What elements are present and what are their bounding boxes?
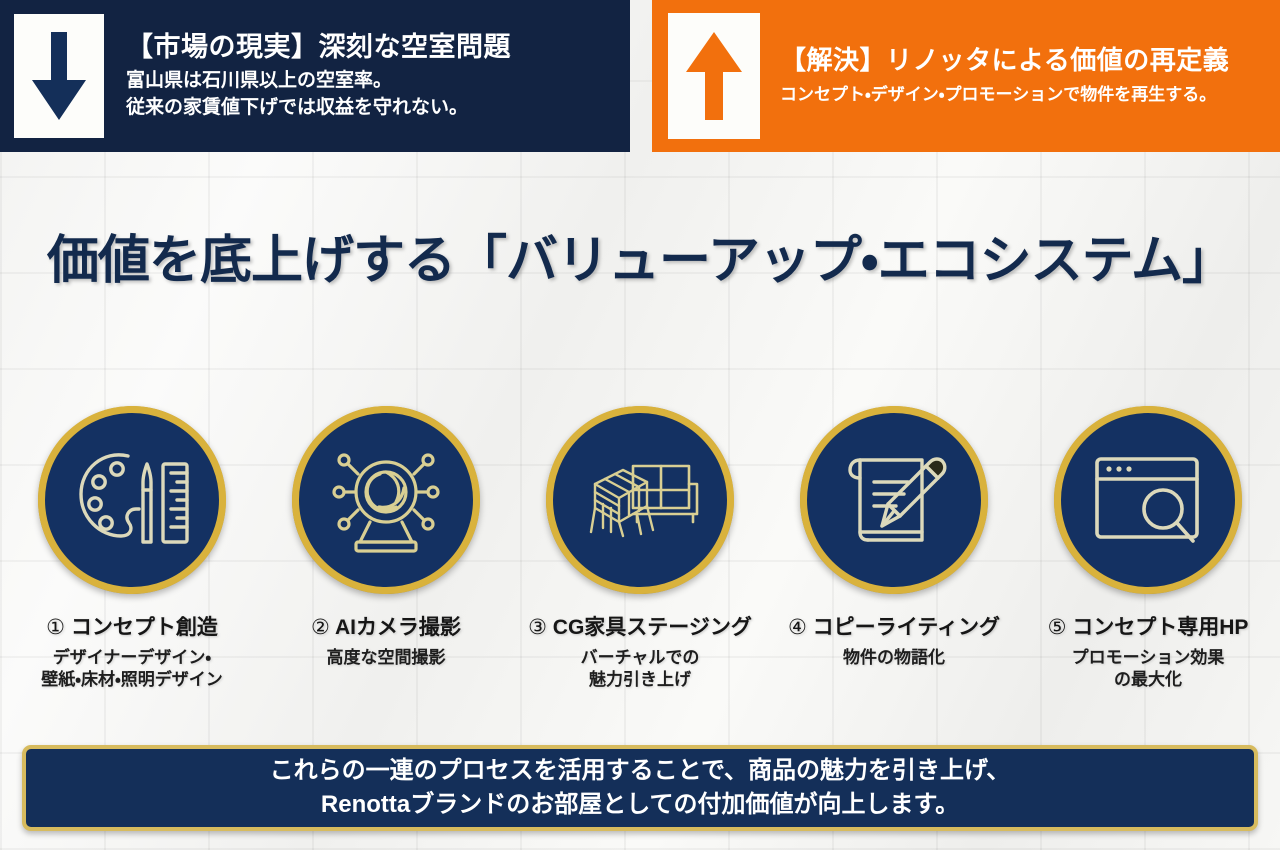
step-4-title: コピーライティング	[813, 616, 1000, 639]
step-item-ai-camera[interactable]: ② AIカメラ撮影 高度な空間撮影	[258, 406, 514, 669]
arrow-up-icon-box	[668, 13, 760, 139]
step-5-description: プロモーション効果 の最大化	[1072, 647, 1225, 691]
header-solution-panel: 【解決】リノッタによる価値の再定義 コンセプト・デザイン・プロモーションで物件を…	[652, 0, 1280, 152]
page-title: 価値を底上げする「バリューアップ・エコシステム」	[0, 218, 1280, 293]
step-3-description: バーチャルでの 魅力引き上げ	[581, 647, 700, 691]
header-problem-sub-1: 富山県は石川県以上の空室率。	[126, 68, 511, 94]
step-4-number: ④	[788, 616, 807, 639]
step-3-title: CG家具ステージング	[553, 616, 752, 639]
step-5-number: ⑤	[1048, 616, 1067, 639]
step-item-concept-creation[interactable]: ① コンセプト創造 デザイナーデザイン・ 壁紙・床材・照明デザイン	[4, 406, 260, 691]
summary-line-2: Renottaブランドのお部屋としての付加価値が向上します。	[321, 788, 959, 822]
summary-line-1: これらの一連のプロセスを活用することで、商品の魅力を引き上げ、	[270, 754, 1011, 788]
step-1-title: コンセプト創造	[71, 616, 218, 639]
step-5-label: ⑤ コンセプト専用HP	[1048, 611, 1249, 641]
arrow-up-icon	[682, 27, 746, 125]
step-item-copywriting[interactable]: ④ コピーライティング 物件の物語化	[766, 406, 1022, 669]
cg-furniture-wireframe-icon	[577, 444, 703, 556]
arrow-down-icon	[28, 28, 90, 124]
summary-banner: これらの一連のプロセスを活用することで、商品の魅力を引き上げ、 Renottaブ…	[22, 745, 1258, 831]
arrow-down-icon-box	[14, 14, 104, 138]
header-problem-title: 【市場の現実】深刻な空室問題	[126, 31, 511, 63]
step-5-title: コンセプト専用HP	[1072, 616, 1248, 639]
step-3-label: ③ CG家具ステージング	[528, 611, 752, 641]
header-solution-text: 【解決】リノッタによる価値の再定義 コンセプト・デザイン・プロモーションで物件を…	[780, 45, 1229, 107]
step-3-circle[interactable]	[546, 406, 734, 594]
scroll-pen-icon	[838, 444, 950, 556]
ai-camera-aperture-icon	[326, 444, 446, 556]
browser-search-icon	[1089, 447, 1207, 553]
header-problem-text: 【市場の現実】深刻な空室問題 富山県は石川県以上の空室率。 従来の家賃値下げでは…	[126, 31, 511, 121]
step-2-circle[interactable]	[292, 406, 480, 594]
step-4-label: ④ コピーライティング	[788, 611, 1000, 641]
header-problem-panel: 【市場の現実】深刻な空室問題 富山県は石川県以上の空室率。 従来の家賃値下げでは…	[0, 0, 630, 152]
step-3-number: ③	[528, 616, 547, 639]
step-1-number: ①	[46, 616, 65, 639]
step-item-cg-furniture[interactable]: ③ CG家具ステージング バーチャルでの 魅力引き上げ	[512, 406, 768, 691]
step-item-concept-website[interactable]: ⑤ コンセプト専用HP プロモーション効果 の最大化	[1020, 406, 1276, 691]
step-4-description: 物件の物語化	[843, 647, 945, 669]
header-solution-sub-1: コンセプト・デザイン・プロモーションで物件を再生する。	[780, 83, 1229, 106]
step-4-circle[interactable]	[800, 406, 988, 594]
step-2-number: ②	[311, 616, 330, 639]
header-solution-title: 【解決】リノッタによる価値の再定義	[780, 45, 1229, 76]
step-1-circle[interactable]	[38, 406, 226, 594]
step-2-description: 高度な空間撮影	[327, 647, 446, 669]
step-1-description: デザイナーデザイン・ 壁紙・床材・照明デザイン	[41, 647, 223, 691]
palette-brush-ruler-icon	[73, 444, 191, 556]
ecosystem-steps: ① コンセプト創造 デザイナーデザイン・ 壁紙・床材・照明デザイン	[0, 406, 1280, 726]
step-1-label: ① コンセプト創造	[46, 611, 218, 641]
header-problem-sub-2: 従来の家賃値下げでは収益を守れない。	[126, 95, 511, 121]
step-2-title: AIカメラ撮影	[335, 616, 461, 639]
infographic-page: 【市場の現実】深刻な空室問題 富山県は石川県以上の空室率。 従来の家賃値下げでは…	[0, 0, 1280, 850]
step-5-circle[interactable]	[1054, 406, 1242, 594]
step-2-label: ② AIカメラ撮影	[311, 611, 461, 641]
